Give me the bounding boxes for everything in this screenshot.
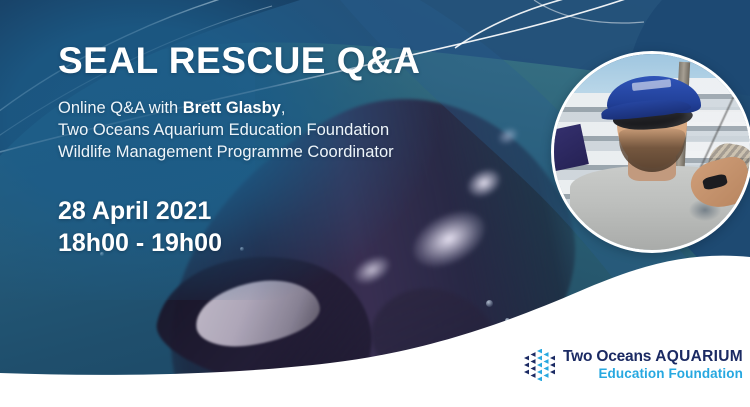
event-datetime: 28 April 2021 18h00 - 19h00 [58,196,222,259]
poster-content: SEAL RESCUE Q&A Online Q&A with Brett Gl… [0,0,750,407]
subtitle-line-1: Online Q&A with Brett Glasby, [58,98,394,120]
speaker-name: Brett Glasby [183,99,281,117]
subtitle-suffix: , [281,99,286,117]
two-oceans-aquarium-logo: Two Oceans AQUARIUM Education Foundation [521,349,743,381]
school-of-fish-diamond-icon [521,349,557,381]
subtitle-prefix: Online Q&A with [58,99,183,117]
event-date: 28 April 2021 [58,196,222,228]
logo-name-line: Two Oceans AQUARIUM [563,349,743,365]
page-title: SEAL RESCUE Q&A [58,42,421,79]
logo-name-light: Two Oceans [563,348,655,365]
subtitle-block: Online Q&A with Brett Glasby, Two Oceans… [58,98,394,164]
seal-rescue-qa-poster: SEAL RESCUE Q&A Online Q&A with Brett Gl… [0,0,750,407]
subtitle-line-2: Two Oceans Aquarium Education Foundation [58,120,394,142]
logo-tagline: Education Foundation [563,367,743,381]
event-time: 18h00 - 19h00 [58,228,222,260]
subtitle-line-3: Wildlife Management Programme Coordinato… [58,142,394,164]
logo-name-bold: AQUARIUM [655,348,743,365]
logo-text-lockup: Two Oceans AQUARIUM Education Foundation [563,349,743,380]
